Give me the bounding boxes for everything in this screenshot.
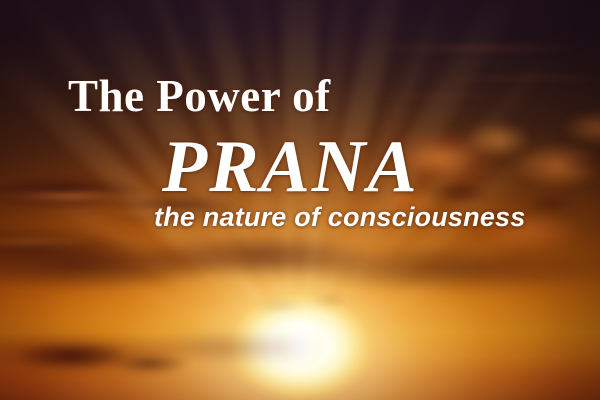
banner-subtitle: the nature of consciousness <box>154 204 525 231</box>
banner-text-block: The Power of PRANA the nature of conscio… <box>0 0 600 400</box>
prana-banner: The Power of PRANA the nature of conscio… <box>0 0 600 400</box>
banner-title-line: The Power of <box>68 74 331 119</box>
banner-headline: PRANA <box>162 130 419 204</box>
